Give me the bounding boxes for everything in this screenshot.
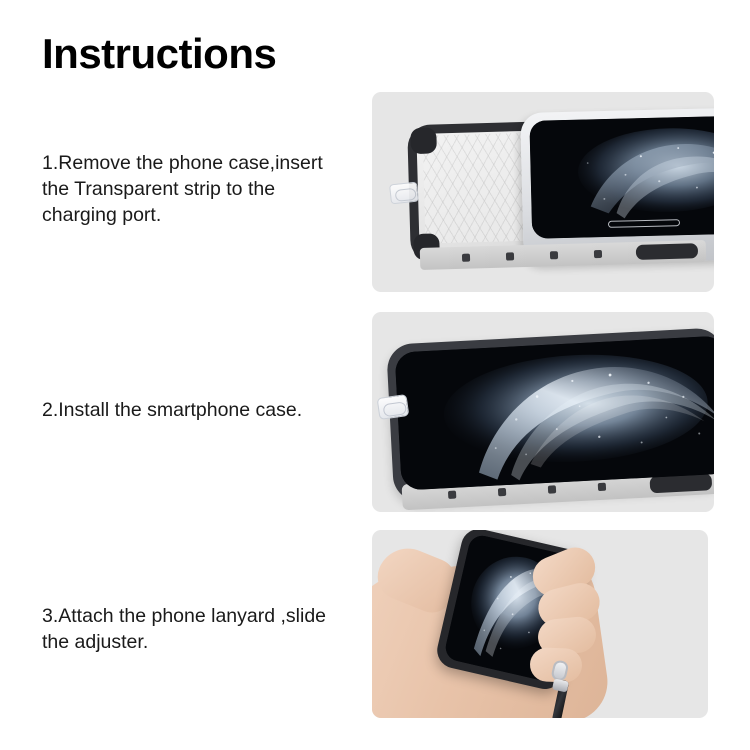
step-1-text: 1.Remove the phone case,insert the Trans… xyxy=(42,150,362,228)
port-dot xyxy=(550,251,558,259)
port-dot xyxy=(462,254,470,262)
port-dot xyxy=(448,491,456,499)
step-3-text: 3.Attach the phone lanyard ,slide the ad… xyxy=(42,603,362,655)
transparent-lanyard-strip xyxy=(377,394,410,420)
port-dot xyxy=(594,250,602,258)
step-3-image-panel xyxy=(372,530,708,718)
transparent-lanyard-strip xyxy=(389,182,419,205)
page-title: Instructions xyxy=(42,30,276,78)
step-1-image-panel xyxy=(372,92,714,292)
port-dot xyxy=(598,483,606,491)
port-dot xyxy=(548,485,556,493)
step-2-text: 2.Install the smartphone case. xyxy=(42,397,362,423)
phone-screen xyxy=(395,335,714,490)
instructions-page: Instructions 1.Remove the phone case,ins… xyxy=(0,0,750,750)
wave-wallpaper xyxy=(395,335,714,490)
port-dot xyxy=(498,488,506,496)
charging-port-cover xyxy=(636,243,698,260)
port-dot xyxy=(506,252,514,260)
step-2-image-panel xyxy=(372,312,714,512)
